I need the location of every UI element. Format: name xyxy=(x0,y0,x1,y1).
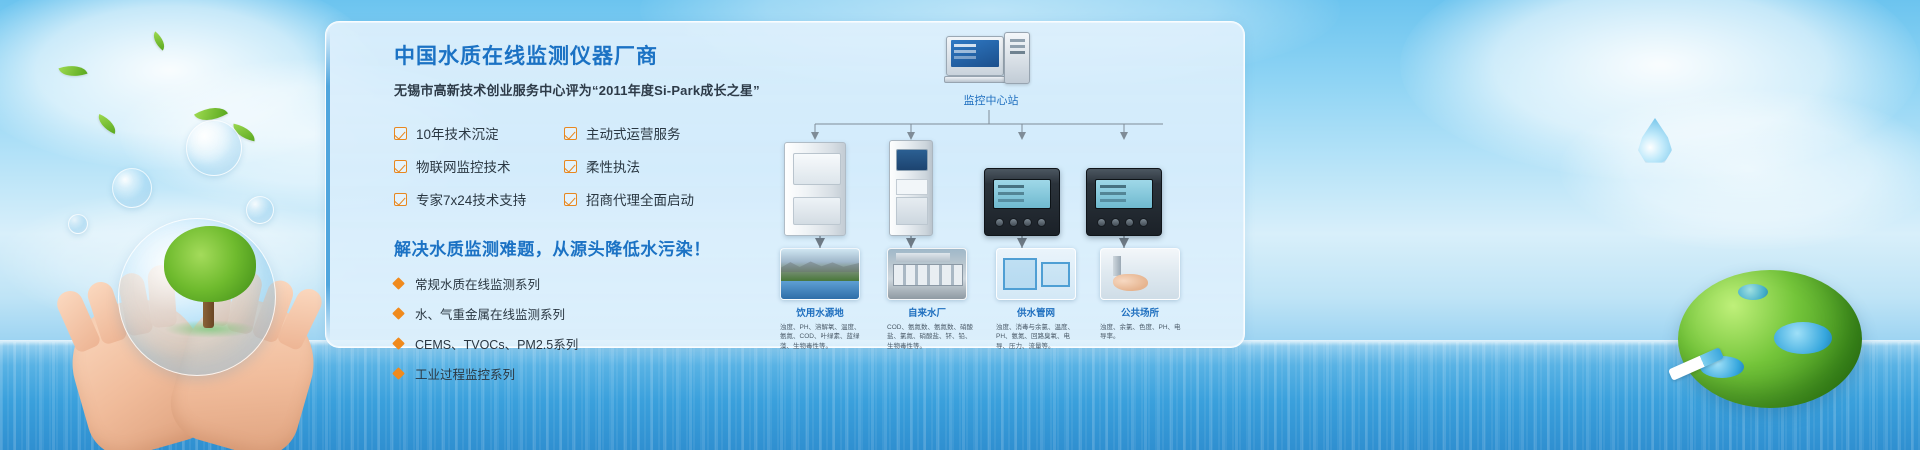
monitor-icon xyxy=(946,36,1004,76)
scenario-description: 浊度、PH、溶解氧、温度、氨氮、COD、叶绿素、蓝绿藻、生物毒性等。 xyxy=(780,323,866,351)
device-row xyxy=(756,136,1226,236)
feature-label: 物联网监控技术 xyxy=(416,156,511,176)
product-series-label: CEMS、TVOCs、PM2.5系列 xyxy=(415,334,578,353)
device-button xyxy=(1037,218,1046,227)
hands-holding-tree-illustration xyxy=(72,200,322,450)
scenario-title: 供水管网 xyxy=(996,305,1076,319)
content-panel: 中国水质在线监测仪器厂商 无锡市高新技术创业服务中心评为“2011年度Si-Pa… xyxy=(325,21,1245,348)
water-droplet-icon xyxy=(1638,118,1672,164)
device-rack-analyzer xyxy=(889,140,933,236)
device-button xyxy=(1097,218,1106,227)
scenario-title: 饮用水源地 xyxy=(780,305,860,319)
feature-item: 物联网监控技术 xyxy=(394,156,564,176)
device-button xyxy=(995,218,1004,227)
device-cabinet-analyzer xyxy=(784,142,846,236)
device-lcd-screen xyxy=(993,179,1051,209)
cloud-decoration xyxy=(1560,90,1920,250)
scenario-card: 饮用水源地 浊度、PH、溶解氧、温度、氨氮、COD、叶绿素、蓝绿藻、生物毒性等。 xyxy=(780,248,860,351)
device-button xyxy=(1139,218,1148,227)
device-panel xyxy=(896,179,928,195)
leaf-icon xyxy=(58,60,87,81)
leaf-icon xyxy=(95,114,120,134)
checkbox-checked-icon xyxy=(564,127,577,140)
leaf-icon xyxy=(149,31,169,50)
device-button-row xyxy=(1097,218,1148,227)
checkbox-checked-icon xyxy=(394,160,407,173)
feature-checklist: 10年技术沉淀 主动式运营服务 物联网监控技术 柔性执法 专家7x24技术支持 … xyxy=(394,123,794,209)
page-title: 中国水质在线监测仪器厂商 xyxy=(394,44,794,69)
product-series-label: 工业过程监控系列 xyxy=(415,364,515,383)
device-controller-narrow xyxy=(1086,168,1162,236)
scenario-card: 公共场所 浊度、余氯、色度、PH、电导率。 xyxy=(1100,248,1180,342)
list-item: 工业过程监控系列 xyxy=(394,364,794,383)
bubble-decoration xyxy=(186,120,242,176)
tree-canopy xyxy=(164,226,256,302)
scenario-description: COD、氨氮数、氨氮数、硝酸盐、氯氮、硝酸盐、钚、铅、生物毒性等。 xyxy=(887,323,973,351)
feature-label: 招商代理全面启动 xyxy=(586,189,694,209)
diamond-bullet-icon xyxy=(392,277,405,290)
scenario-description: 浊度、消毒与余氯、温度、PH、氨氮、回路臭氧、电导、压力、流量等。 xyxy=(996,323,1082,351)
scenario-thumbnail-water-supply-network xyxy=(996,248,1076,300)
scenario-title: 自来水厂 xyxy=(887,305,967,319)
earth-water-body xyxy=(1738,284,1768,300)
diamond-bullet-icon xyxy=(392,307,405,320)
list-item: 水、气重金属在线监测系列 xyxy=(394,304,794,323)
scenario-description: 浊度、余氯、色度、PH、电导率。 xyxy=(1100,323,1186,342)
page-subtitle: 无锡市高新技术创业服务中心评为“2011年度Si-Park成长之星” xyxy=(394,80,794,99)
feature-item: 10年技术沉淀 xyxy=(394,123,564,143)
scenario-card: 自来水厂 COD、氨氮数、氨氮数、硝酸盐、氯氮、硝酸盐、钚、铅、生物毒性等。 xyxy=(887,248,967,351)
diamond-bullet-icon xyxy=(392,367,405,380)
diamond-bullet-icon xyxy=(392,337,405,350)
scenario-card: 供水管网 浊度、消毒与余氯、温度、PH、氨氮、回路臭氧、电导、压力、流量等。 xyxy=(996,248,1076,351)
scenario-thumbnail-drinking-water-source xyxy=(780,248,860,300)
monitor-screen xyxy=(951,40,999,67)
scenario-thumbnail-public-places xyxy=(1100,248,1180,300)
diagram-center-label: 监控中心站 xyxy=(906,92,1076,108)
left-text-column: 中国水质在线监测仪器厂商 无锡市高新技术创业服务中心评为“2011年度Si-Pa… xyxy=(394,44,794,394)
scenario-title: 公共场所 xyxy=(1100,305,1180,319)
device-button xyxy=(1023,218,1032,227)
feature-item: 专家7x24技术支持 xyxy=(394,189,564,209)
checkbox-checked-icon xyxy=(564,160,577,173)
feature-label: 柔性执法 xyxy=(586,156,640,176)
device-display xyxy=(896,149,928,171)
checkbox-checked-icon xyxy=(564,193,577,206)
keyboard-icon xyxy=(944,76,1008,83)
monitoring-center-computer-icon xyxy=(946,36,1032,88)
product-series-label: 常规水质在线监测系列 xyxy=(415,274,540,293)
device-controller-wide xyxy=(984,168,1060,236)
feature-label: 专家7x24技术支持 xyxy=(416,189,526,209)
device-button xyxy=(1111,218,1120,227)
scenario-thumbnail-waterworks xyxy=(887,248,967,300)
device-button xyxy=(1125,218,1134,227)
device-lcd-screen xyxy=(1095,179,1153,209)
panel-left-accent xyxy=(326,30,330,341)
device-panel xyxy=(896,197,928,225)
feature-label: 10年技术沉淀 xyxy=(416,123,499,143)
list-item: CEMS、TVOCs、PM2.5系列 xyxy=(394,334,794,353)
list-item: 常规水质在线监测系列 xyxy=(394,274,794,293)
green-earth-illustration xyxy=(1678,270,1862,408)
checkbox-checked-icon xyxy=(394,193,407,206)
earth-water-body xyxy=(1774,322,1832,354)
product-series-label: 水、气重金属在线监测系列 xyxy=(415,304,565,323)
product-series-list: 常规水质在线监测系列 水、气重金属在线监测系列 CEMS、TVOCs、PM2.5… xyxy=(394,274,794,383)
checkbox-checked-icon xyxy=(394,127,407,140)
system-architecture-diagram: 监控中心站 xyxy=(756,36,1226,341)
device-button xyxy=(1009,218,1018,227)
pc-tower-icon xyxy=(1004,32,1030,84)
section-heading: 解决水质监测难题，从源头降低水污染！ xyxy=(394,235,794,260)
feature-label: 主动式运营服务 xyxy=(586,123,681,143)
device-button-row xyxy=(995,218,1046,227)
